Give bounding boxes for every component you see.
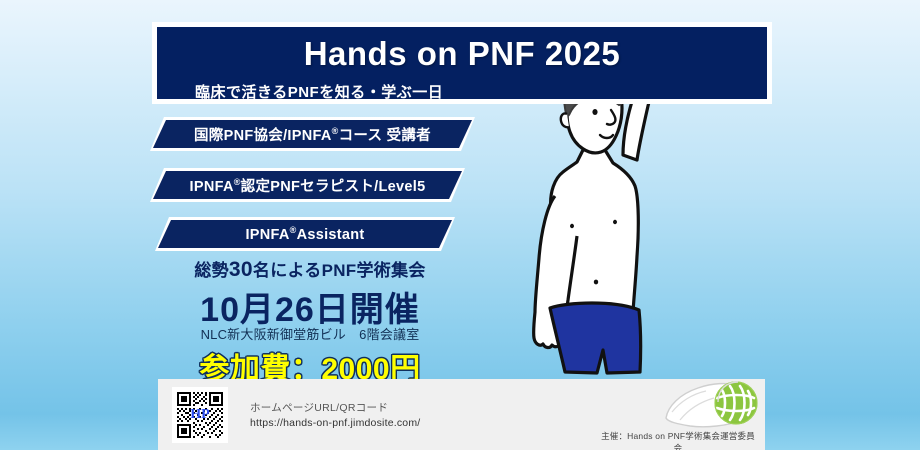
- event-venue: NLC新大阪新御堂筋ビル 6階会議室: [150, 324, 470, 343]
- badge-label: IPNFA®Assistant: [245, 225, 364, 243]
- badge-target-course-participant: 国際PNF協会/IPNFA®コース 受講者: [150, 117, 475, 151]
- badge-label: IPNFA®認定PNFセラピスト/Level5: [190, 175, 426, 196]
- website-url[interactable]: https://hands-on-pnf.jimdosite.com/: [250, 417, 420, 429]
- title-banner: Hands on PNF 2025 臨床で活きるPNFを知る・学ぶ一日: [152, 22, 772, 104]
- page-title: Hands on PNF 2025: [157, 35, 767, 73]
- organizer-text: 主催：Hands on PNF学術集会運営委員会: [598, 430, 758, 450]
- ipnfa-logo: [658, 376, 778, 431]
- badge-inner: 国際PNF協会/IPNFA®コース 受講者: [153, 120, 472, 148]
- badge-target-assistant: IPNFA®Assistant: [155, 217, 455, 251]
- badge-label: 国際PNF協会/IPNFA®コース 受講者: [194, 124, 431, 145]
- badge-inner: IPNFA®Assistant: [158, 220, 452, 248]
- qr-code[interactable]: HP: [172, 387, 228, 443]
- poster-canvas: Hands on PNF 2025 臨床で活きるPNFを知る・学ぶ一日 国際PN…: [0, 0, 920, 450]
- footer-bar: HP ホームページURL/QRコード https://hands-on-pnf.…: [158, 379, 765, 450]
- url-label: ホームページURL/QRコード: [250, 400, 388, 415]
- badge-inner: IPNFA®認定PNFセラピスト/Level5: [153, 171, 462, 199]
- attendees-line: 総勢30名によるPNF学術集会: [150, 256, 470, 282]
- badge-target-certified-therapist: IPNFA®認定PNFセラピスト/Level5: [150, 168, 465, 202]
- qr-center-label: HP: [190, 408, 209, 422]
- page-subtitle: 臨床で活きるPNFを知る・学ぶ一日: [195, 81, 443, 102]
